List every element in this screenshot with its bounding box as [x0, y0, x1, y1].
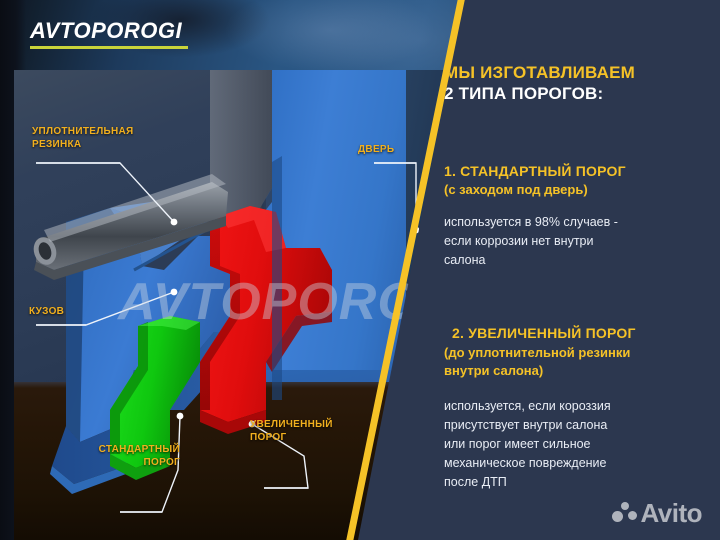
avito-dots-icon	[612, 502, 636, 524]
avito-wordmark: Avito	[640, 500, 702, 526]
yellow-diagonal-divider	[0, 0, 720, 540]
infographic-image: УПЛОТНИТЕЛЬНАЯ РЕЗИНКА КУЗОВ СТАНДАРТНЫЙ…	[0, 0, 720, 540]
avito-watermark: Avito	[612, 500, 702, 526]
brand-logo-text: AVTOPOROGI	[30, 20, 188, 42]
brand-logo: AVTOPOROGI	[30, 20, 188, 49]
brand-logo-underline	[30, 46, 188, 49]
